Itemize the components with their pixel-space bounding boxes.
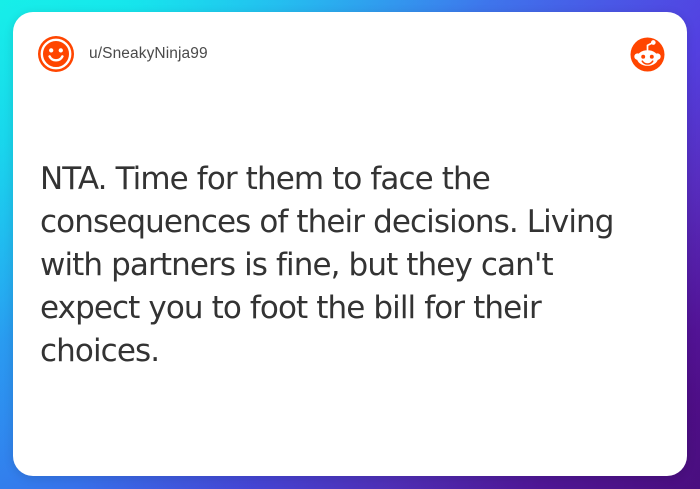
card-body: NTA. Time for them to face the consequen… bbox=[13, 96, 687, 476]
post-text: NTA. Time for them to face the consequen… bbox=[40, 158, 635, 373]
user-identity-block[interactable]: u/SneakyNinja99 bbox=[37, 35, 208, 73]
reddit-snoo-icon[interactable] bbox=[630, 37, 665, 72]
smiley-face-avatar-icon[interactable] bbox=[37, 35, 75, 73]
reddit-post-card: u/SneakyNinja99 NTA. Time for them to fa… bbox=[13, 12, 687, 476]
card-header: u/SneakyNinja99 bbox=[13, 12, 687, 96]
username-label: u/SneakyNinja99 bbox=[89, 45, 208, 63]
